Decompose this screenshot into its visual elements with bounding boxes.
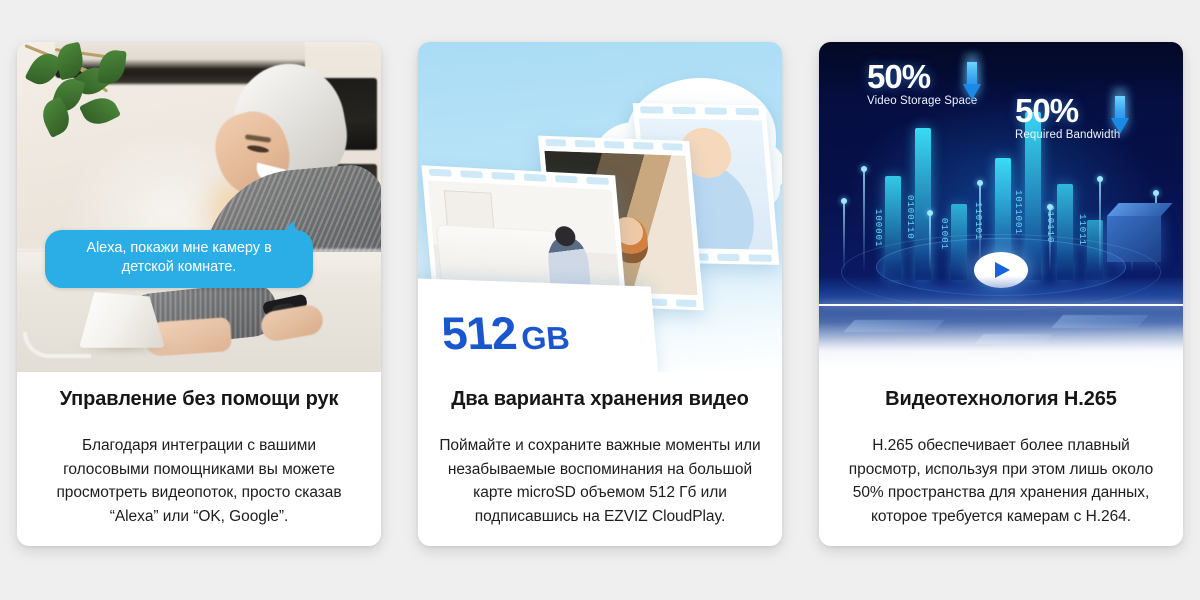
arrow-down-icon-storage [963, 62, 981, 102]
card-media-h265-illustration: 100001 0100110 01001 110101 1011001 0101… [819, 42, 1183, 372]
card-title-storage: Два варианта хранения видео [438, 386, 762, 412]
storage-capacity-unit: GB [520, 320, 571, 356]
storage-capacity-label: 512GB [439, 306, 571, 360]
feature-card-hands-free[interactable]: Alexa, покажи мне камеру в детской комна… [17, 42, 381, 546]
stat-percent-bandwidth: 50% [1015, 94, 1120, 128]
card-media-storage-illustration: 512GB [418, 42, 782, 372]
card-body-h265: Видеотехнология H.265 H.265 обеспечивает… [819, 372, 1183, 546]
card-media-kitchen-photo: Alexa, покажи мне камеру в детской комна… [17, 42, 381, 372]
feature-card-row: Alexa, покажи мне камеру в детской комна… [0, 0, 1200, 600]
arrow-down-icon-bandwidth [1111, 96, 1129, 136]
voice-command-bubble: Alexa, покажи мне камеру в детской комна… [45, 230, 313, 288]
feature-card-h265[interactable]: 100001 0100110 01001 110101 1011001 0101… [819, 42, 1183, 546]
card-description-hands-free: Благодаря интеграции с вашими голосовыми… [37, 434, 361, 528]
h265-stats: 50% Video Storage Space 50% Required Ban… [819, 42, 1183, 162]
card-description-storage: Поймайте и сохраните важные моменты или … [438, 434, 762, 528]
voice-command-text: Alexa, покажи мне камеру в детской комна… [86, 240, 271, 275]
stat-video-storage-space: 50% Video Storage Space [867, 60, 977, 107]
card-title-hands-free: Управление без помощи рук [37, 386, 361, 412]
houseplant-decor [21, 42, 151, 158]
card-title-h265: Видеотехнология H.265 [839, 386, 1163, 412]
stat-required-bandwidth: 50% Required Bandwidth [1015, 94, 1120, 141]
card-body-storage: Два варианта хранения видео Поймайте и с… [418, 372, 782, 546]
card-description-h265: H.265 обеспечивает более плавный просмот… [839, 434, 1163, 528]
card-body-hands-free: Управление без помощи рук Благодаря инте… [17, 372, 381, 546]
feature-card-storage[interactable]: 512GB Два варианта хранения видео Поймай… [418, 42, 782, 546]
stat-label-bandwidth: Required Bandwidth [1015, 129, 1120, 141]
storage-capacity-value: 512 [439, 307, 518, 359]
